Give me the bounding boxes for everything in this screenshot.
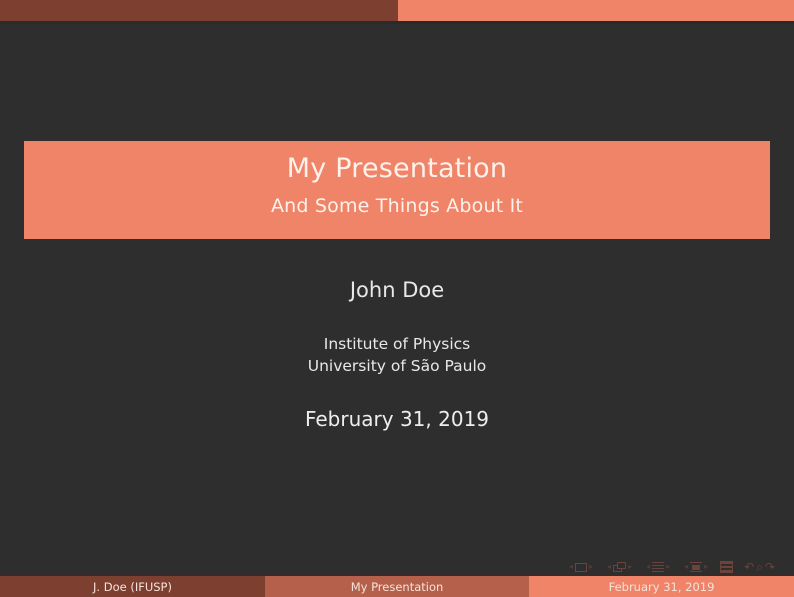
institute-block: Institute of Physics University of São P… xyxy=(0,333,794,377)
subsection-navigation-group[interactable]: ◂ ▸ xyxy=(644,562,672,572)
slide-prev-arrow-icon[interactable]: ◂ xyxy=(567,563,575,571)
headline-bar-left-segment xyxy=(0,0,398,21)
footline-bar: J. Doe (IFUSP) My Presentation February … xyxy=(0,576,794,597)
presentation-date: February 31, 2019 xyxy=(0,407,794,431)
presentation-title: My Presentation xyxy=(24,149,770,189)
headline-bar-right-segment xyxy=(398,0,794,21)
subsection-next-arrow-icon[interactable]: ▸ xyxy=(664,563,672,571)
institute-line-2: University of São Paulo xyxy=(0,355,794,377)
beamer-slide: My Presentation And Some Things About It… xyxy=(0,0,794,597)
history-navigation-group[interactable]: ↶ ⌕ ↷ xyxy=(743,561,776,573)
footer-date: February 31, 2019 xyxy=(529,576,794,597)
footer-title: My Presentation xyxy=(265,576,529,597)
navigation-symbols[interactable]: ◂ ▸ ◂ ▸ ◂ ▸ ◂ ▸ ↶ ⌕ ↷ xyxy=(567,559,786,575)
frame-prev-arrow-icon[interactable]: ◂ xyxy=(605,563,613,571)
forward-icon[interactable]: ↷ xyxy=(764,561,776,573)
slide-box-icon[interactable] xyxy=(575,563,587,572)
subsection-lines-icon[interactable] xyxy=(652,562,664,572)
section-filled-icon[interactable] xyxy=(690,562,702,572)
search-icon[interactable]: ⌕ xyxy=(755,561,764,573)
headline-bar-shadow xyxy=(0,21,794,24)
author-name: John Doe xyxy=(0,278,794,302)
frame-navigation-group[interactable]: ◂ ▸ xyxy=(605,562,634,573)
back-icon[interactable]: ↶ xyxy=(743,561,755,573)
frame-next-arrow-icon[interactable]: ▸ xyxy=(626,563,634,571)
section-next-arrow-icon[interactable]: ▸ xyxy=(702,563,710,571)
title-block: My Presentation And Some Things About It xyxy=(24,141,770,239)
slide-navigation-group[interactable]: ◂ ▸ xyxy=(567,563,595,572)
document-navigation-group[interactable] xyxy=(720,561,733,573)
section-prev-arrow-icon[interactable]: ◂ xyxy=(682,563,690,571)
subsection-prev-arrow-icon[interactable]: ◂ xyxy=(644,563,652,571)
presentation-subtitle: And Some Things About It xyxy=(24,189,770,223)
headline-bar xyxy=(0,0,794,21)
section-navigation-group[interactable]: ◂ ▸ xyxy=(682,562,710,572)
footer-author: J. Doe (IFUSP) xyxy=(0,576,265,597)
institute-line-1: Institute of Physics xyxy=(0,333,794,355)
document-icon[interactable] xyxy=(720,561,733,573)
slide-next-arrow-icon[interactable]: ▸ xyxy=(587,563,595,571)
frame-stack-icon[interactable] xyxy=(613,562,626,573)
